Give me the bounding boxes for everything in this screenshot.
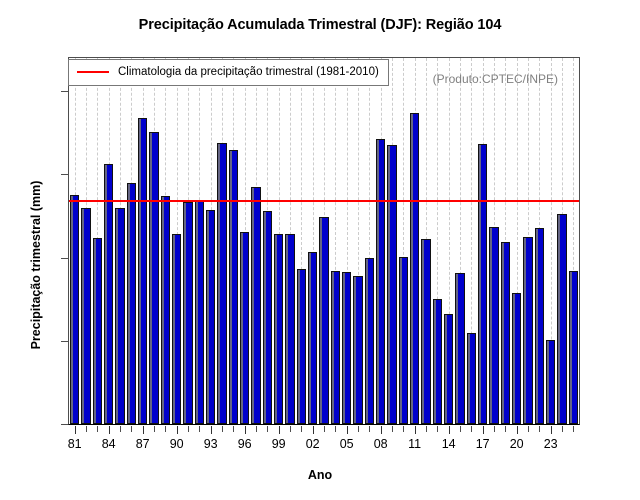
x-tick-minor [131, 426, 132, 432]
x-tick-major [211, 426, 212, 434]
x-axis-tick-labels: 818487909396990205081114172023 [68, 437, 580, 455]
x-tick-minor [324, 426, 325, 432]
y-axis-tick-labels: 0200400600800 [0, 57, 640, 425]
x-tick-minor [426, 426, 427, 432]
x-tick-minor [267, 426, 268, 432]
x-tick-major [245, 426, 246, 434]
x-tick-major [381, 426, 382, 434]
x-tick-minor [165, 426, 166, 432]
chart-figure: Precipitação Acumulada Trimestral (DJF):… [0, 0, 640, 500]
x-axis-ticks [68, 426, 580, 436]
x-tick-minor [120, 426, 121, 432]
x-tick-minor [301, 426, 302, 432]
legend-item-label: Climatologia da precipitação trimestral … [118, 66, 379, 78]
x-tick-major [177, 426, 178, 434]
x-tick-minor [460, 426, 461, 432]
x-tick-major [109, 426, 110, 434]
x-axis-label: Ano [0, 468, 640, 482]
x-tick-minor [494, 426, 495, 432]
x-tick-label: 23 [531, 437, 571, 451]
x-tick-minor [97, 426, 98, 432]
x-tick-minor [335, 426, 336, 432]
x-tick-minor [358, 426, 359, 432]
x-tick-major [347, 426, 348, 434]
x-tick-minor [188, 426, 189, 432]
x-tick-minor [369, 426, 370, 432]
x-tick-major [279, 426, 280, 434]
x-tick-minor [222, 426, 223, 432]
x-tick-minor [199, 426, 200, 432]
x-tick-minor [437, 426, 438, 432]
x-tick-minor [154, 426, 155, 432]
x-tick-minor [86, 426, 87, 432]
x-tick-major [483, 426, 484, 434]
x-tick-minor [528, 426, 529, 432]
x-tick-major [551, 426, 552, 434]
x-tick-minor [562, 426, 563, 432]
climatology-line-swatch-icon [77, 71, 109, 73]
x-tick-major [143, 426, 144, 434]
source-annotation: (Produto:CPTEC/INPE) [433, 72, 558, 86]
x-tick-major [415, 426, 416, 434]
x-tick-minor [505, 426, 506, 432]
x-tick-major [517, 426, 518, 434]
x-tick-minor [233, 426, 234, 432]
x-tick-major [75, 426, 76, 434]
x-tick-minor [392, 426, 393, 432]
x-tick-minor [539, 426, 540, 432]
x-tick-minor [403, 426, 404, 432]
x-tick-minor [573, 426, 574, 432]
x-tick-minor [256, 426, 257, 432]
x-tick-major [313, 426, 314, 434]
legend: Climatologia da precipitação trimestral … [68, 59, 389, 86]
x-tick-minor [290, 426, 291, 432]
page-title: Precipitação Acumulada Trimestral (DJF):… [0, 17, 640, 33]
x-tick-minor [471, 426, 472, 432]
x-tick-major [449, 426, 450, 434]
